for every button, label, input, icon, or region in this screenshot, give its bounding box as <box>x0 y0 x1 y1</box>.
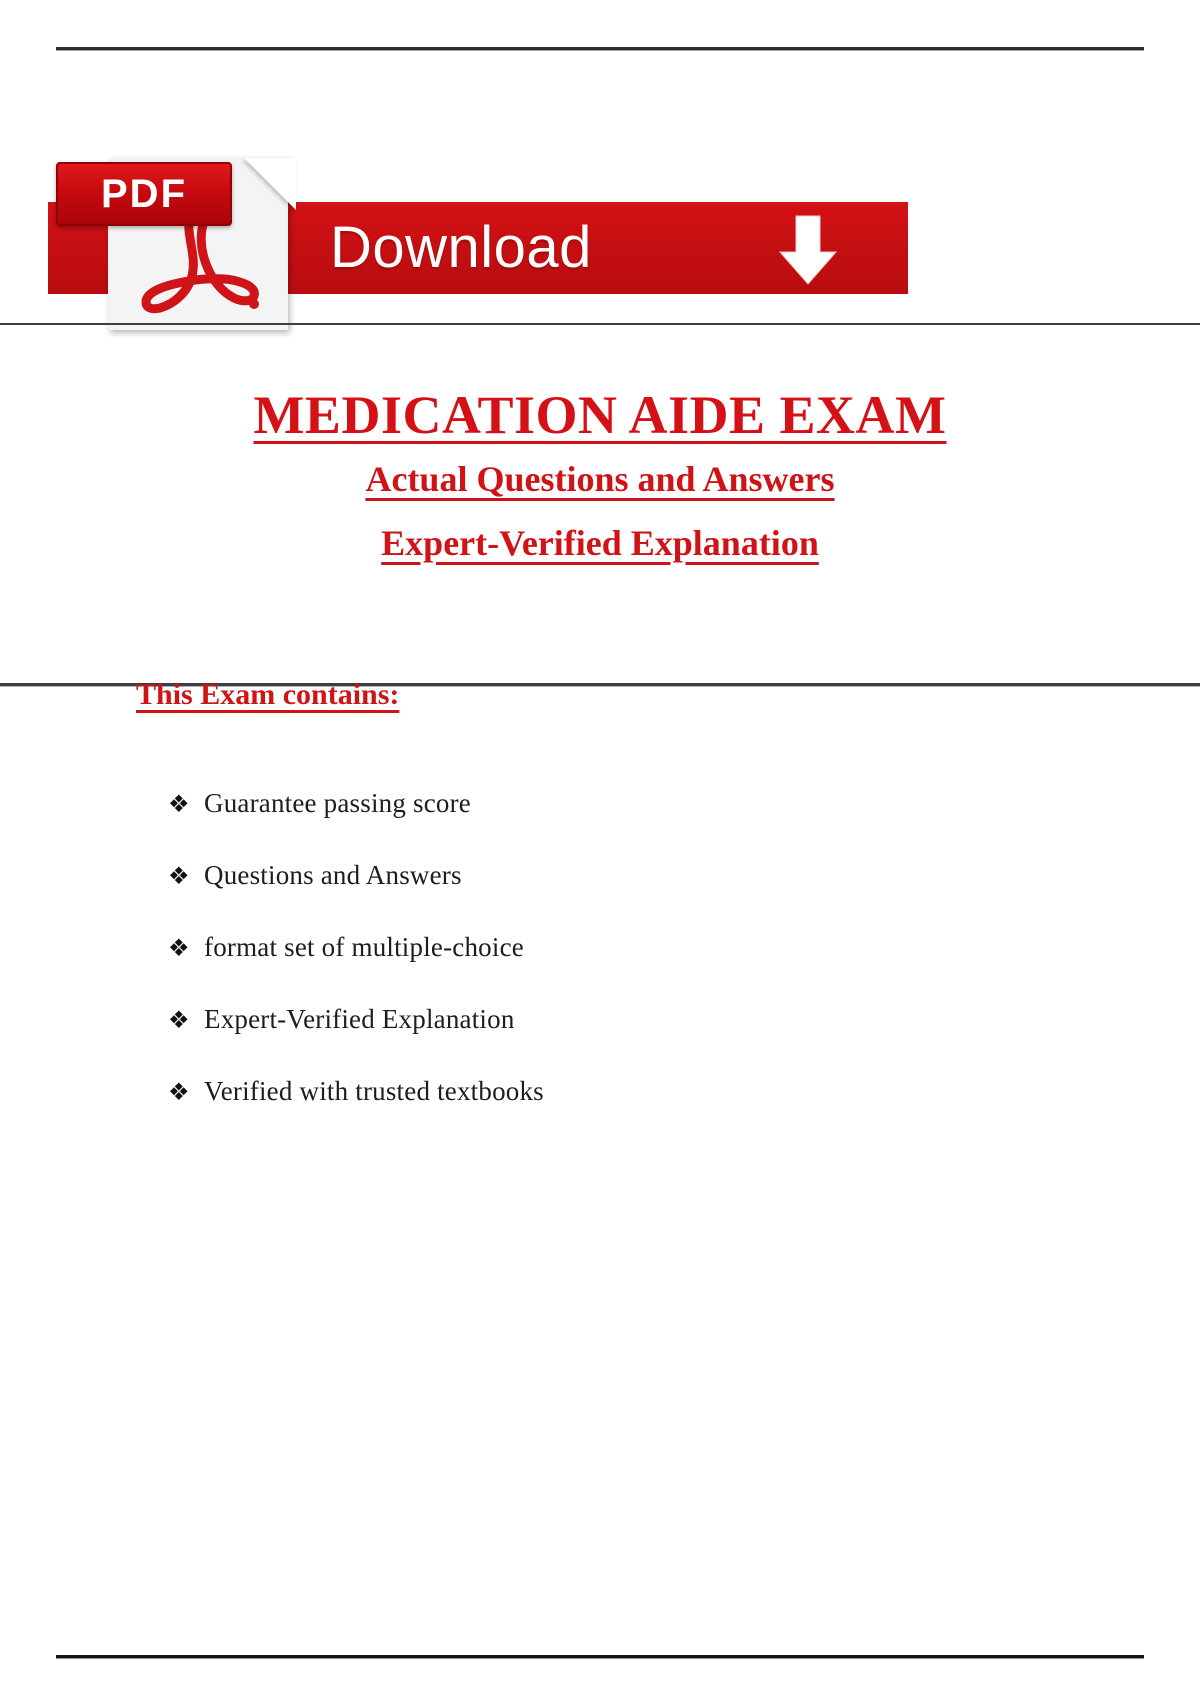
list-item-label: Guarantee passing score <box>204 788 471 819</box>
list-item-label: format set of multiple-choice <box>204 932 524 963</box>
page-title: MEDICATION AIDE EXAM <box>0 384 1200 446</box>
list-item-label: Questions and Answers <box>204 860 462 891</box>
list-item: ❖ Verified with trusted textbooks <box>168 1076 928 1148</box>
list-item-label: Expert-Verified Explanation <box>204 1004 515 1035</box>
pdf-label-badge: PDF <box>56 162 232 226</box>
diamond-bullet-icon: ❖ <box>168 934 204 963</box>
subtitle-expert-verified: Expert-Verified Explanation <box>0 522 1200 564</box>
banner-divider <box>0 323 1200 325</box>
subtitle-actual-questions: Actual Questions and Answers <box>0 458 1200 500</box>
top-divider <box>56 47 1144 51</box>
pdf-corner-fold <box>244 158 296 210</box>
download-banner-label: Download <box>330 212 750 284</box>
download-arrow-icon <box>770 212 846 288</box>
list-item: ❖ format set of multiple-choice <box>168 932 928 1004</box>
list-item-label: Verified with trusted textbooks <box>204 1076 544 1107</box>
download-banner[interactable]: Download PDF <box>0 130 1200 330</box>
list-item: ❖ Expert-Verified Explanation <box>168 1004 928 1076</box>
list-item: ❖ Questions and Answers <box>168 860 928 932</box>
list-item: ❖ Guarantee passing score <box>168 788 928 860</box>
bottom-divider <box>56 1655 1144 1659</box>
diamond-bullet-icon: ❖ <box>168 1078 204 1107</box>
document-page: Download PDF MEDICATION AIDE EXAM Actual… <box>0 0 1200 1700</box>
exam-contains-heading: This Exam contains: <box>136 678 399 712</box>
diamond-bullet-icon: ❖ <box>168 1006 204 1035</box>
exam-contains-list: ❖ Guarantee passing score ❖ Questions an… <box>168 788 928 1148</box>
diamond-bullet-icon: ❖ <box>168 790 204 819</box>
pdf-file-icon: PDF <box>100 138 296 334</box>
diamond-bullet-icon: ❖ <box>168 862 204 891</box>
